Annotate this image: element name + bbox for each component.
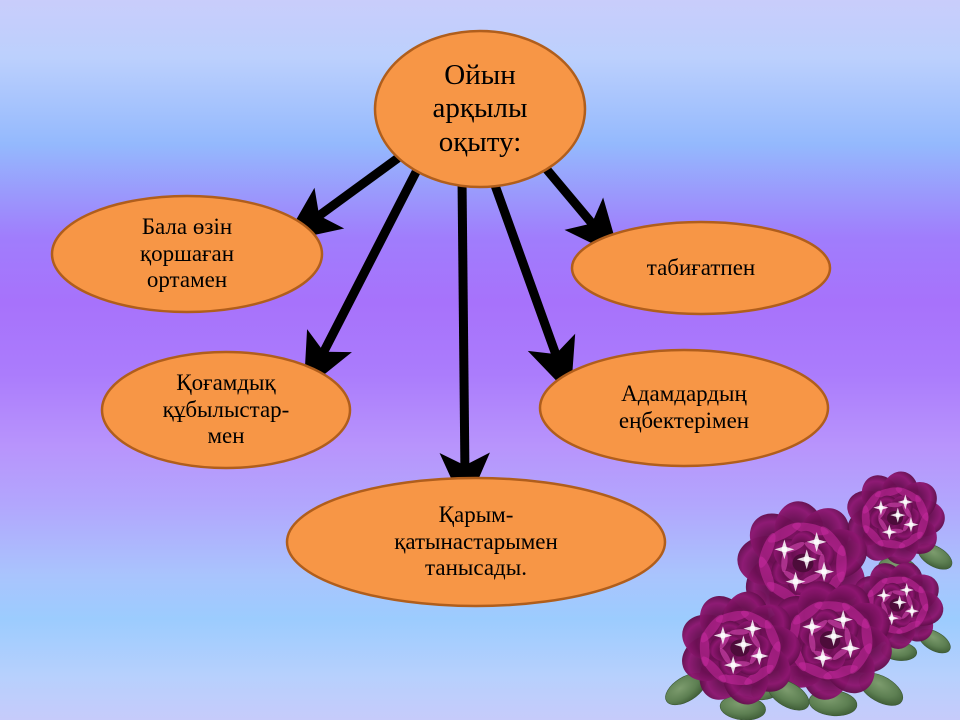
connector-center-to-lower-right	[492, 177, 560, 366]
diagram-vector-layer	[0, 0, 960, 720]
node-group	[52, 31, 830, 606]
node-ellipse-left[interactable]	[52, 196, 322, 312]
node-ellipse-bottom[interactable]	[287, 478, 665, 606]
connector-center-to-left	[309, 158, 398, 223]
slide-canvas: Ойын арқылы оқыту: Бала өзін қоршаған ор…	[0, 0, 960, 720]
node-ellipse-lower-right[interactable]	[540, 350, 828, 466]
node-ellipse-right[interactable]	[572, 222, 830, 314]
rose-cluster	[660, 468, 956, 720]
node-ellipse-center[interactable]	[375, 31, 585, 187]
connector-center-to-bottom	[462, 178, 465, 478]
node-ellipse-lower-left[interactable]	[102, 352, 350, 468]
